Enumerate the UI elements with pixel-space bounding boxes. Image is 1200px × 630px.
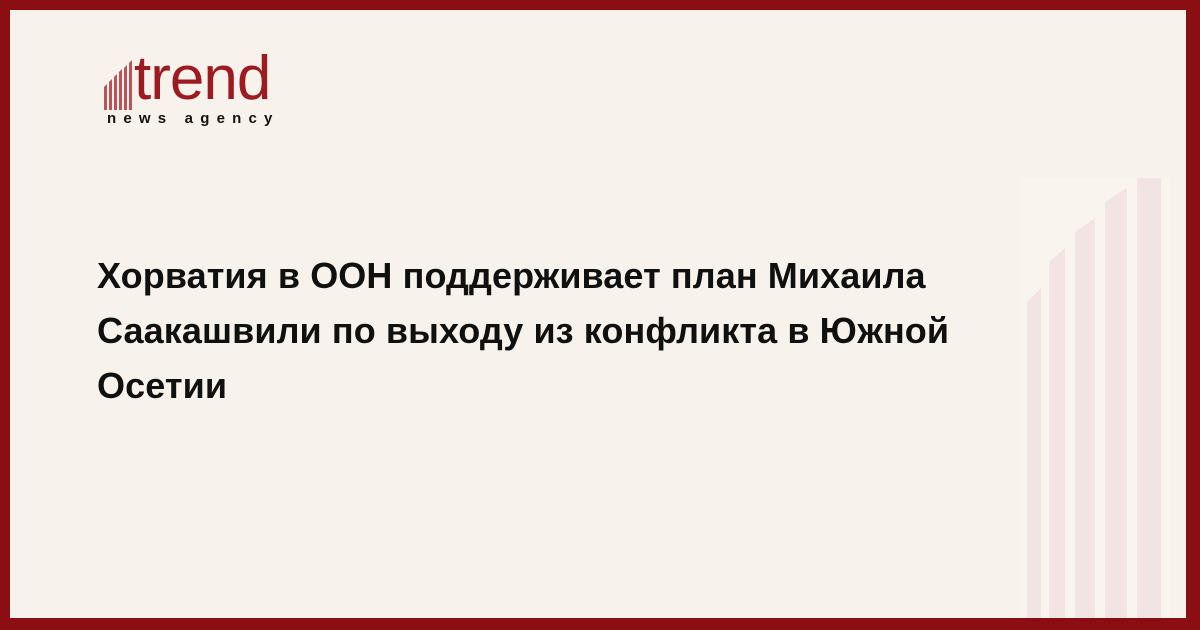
brand-logo[interactable]: trend news agency [97, 48, 417, 143]
logo-mark-bar-3 [114, 74, 117, 110]
news-share-card: trend news agency Хорватия в ООН поддерж… [0, 0, 1200, 630]
logo-mark-bar-2 [109, 79, 112, 110]
watermark-bar-1 [1027, 288, 1041, 618]
headline-line-3: Осетии [97, 358, 1007, 413]
ascending-bars-watermark [1012, 178, 1172, 618]
watermark-bar-4 [1105, 188, 1127, 618]
headline-line-2: Саакашвили по выходу из конфликта в Южно… [97, 303, 1007, 358]
watermark-bar-2 [1049, 248, 1065, 618]
logo-wordmark: trend [134, 48, 270, 110]
logo-mark-bar-4 [119, 69, 122, 110]
logo-tagline: news agency [107, 110, 280, 128]
headline-line-1: Хорватия в ООН поддерживает план Михаила [97, 248, 1007, 303]
watermark-bar-3 [1075, 218, 1095, 618]
card-canvas: trend news agency Хорватия в ООН поддерж… [10, 10, 1186, 618]
page-title: Хорватия в ООН поддерживает план Михаила… [97, 248, 1007, 413]
logo-mark-bar-6 [129, 60, 132, 110]
watermark-bar-5 [1137, 178, 1161, 618]
logo-mark-bar-1 [104, 84, 107, 110]
logo-mark-bar-5 [124, 65, 127, 110]
